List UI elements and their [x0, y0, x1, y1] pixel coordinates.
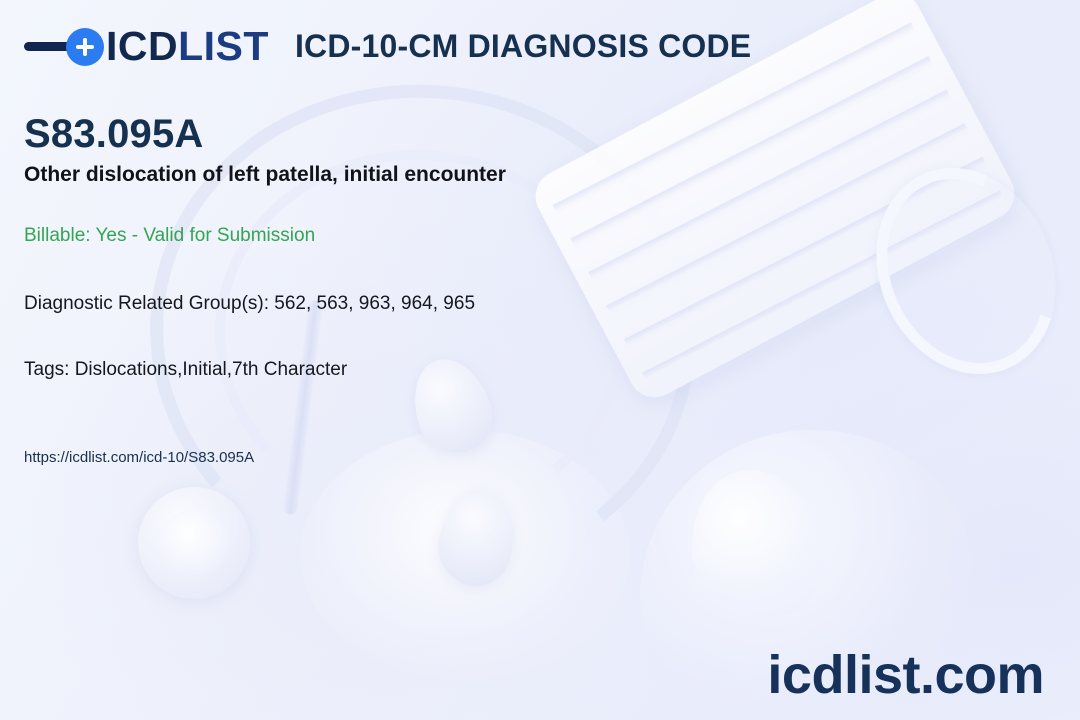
icdlist-logo[interactable]: ICD LIST — [24, 26, 269, 67]
source-url[interactable]: https://icdlist.com/icd-10/S83.095A — [24, 448, 924, 468]
diagnosis-code: S83.095A — [24, 112, 924, 156]
diagnosis-description: Other dislocation of left patella, initi… — [24, 162, 924, 188]
page-title: ICD-10-CM DIAGNOSIS CODE — [295, 28, 751, 65]
card-content: ICD LIST ICD-10-CM DIAGNOSIS CODE S83.09… — [0, 0, 1080, 720]
plus-circle-icon — [66, 28, 104, 66]
icd-code-card: ICD LIST ICD-10-CM DIAGNOSIS CODE S83.09… — [0, 0, 1080, 720]
site-watermark: icdlist.com — [767, 648, 1044, 702]
header: ICD LIST ICD-10-CM DIAGNOSIS CODE — [24, 26, 751, 67]
logo-text-icd: ICD — [106, 26, 178, 67]
billable-status: Billable: Yes - Valid for Submission — [24, 224, 924, 249]
code-details: S83.095A Other dislocation of left patel… — [24, 112, 924, 468]
tags-list: Tags: Dislocations,Initial,7th Character — [24, 358, 924, 383]
logo-text-list: LIST — [178, 26, 269, 67]
diagnostic-related-groups: Diagnostic Related Group(s): 562, 563, 9… — [24, 292, 924, 317]
